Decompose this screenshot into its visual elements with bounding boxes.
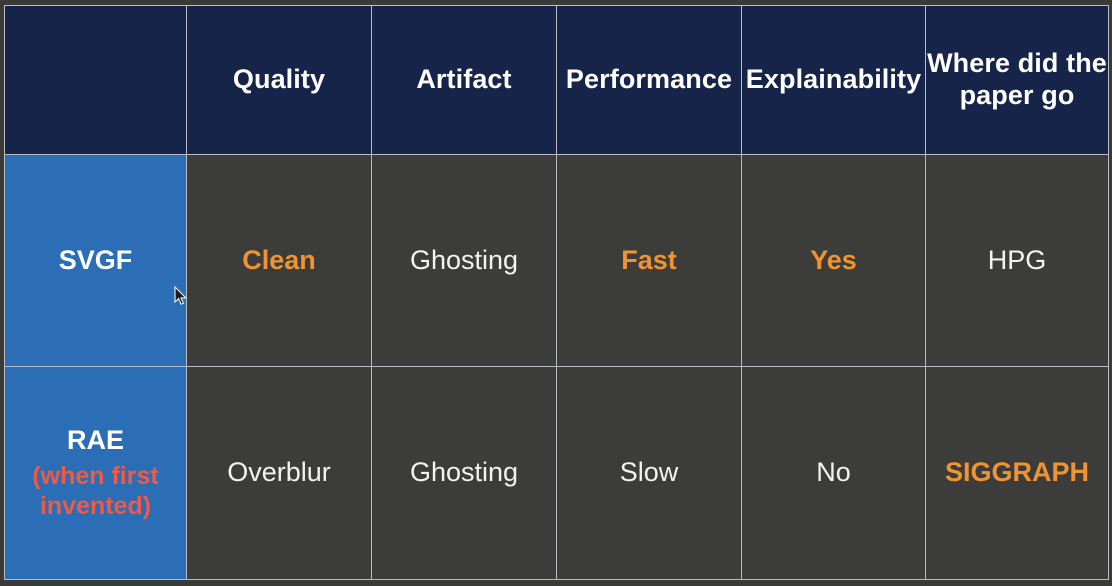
cell-svgf-quality: Clean	[187, 154, 372, 367]
header-cell-artifact: Artifact	[372, 6, 557, 155]
header-cell-quality: Quality	[187, 6, 372, 155]
row-label-rae-main: RAE	[5, 425, 186, 457]
header-cell-venue: Where did the paper go	[926, 6, 1109, 155]
row-label-svgf: SVGF	[5, 154, 187, 367]
header-cell-corner	[5, 6, 187, 155]
cell-rae-venue: SIGGRAPH	[926, 367, 1109, 580]
row-label-rae: RAE (when first invented)	[5, 367, 187, 580]
cell-svgf-performance: Fast	[557, 154, 742, 367]
header-cell-performance: Performance	[557, 6, 742, 155]
cell-svgf-artifact: Ghosting	[372, 154, 557, 367]
cell-rae-explainability: No	[742, 367, 926, 580]
table-header-row: Quality Artifact Performance Explainabil…	[5, 6, 1109, 155]
row-label-svgf-main: SVGF	[5, 245, 186, 277]
cell-rae-performance: Slow	[557, 367, 742, 580]
cell-svgf-explainability: Yes	[742, 154, 926, 367]
table-row: SVGF Clean Ghosting Fast Yes HPG	[5, 154, 1109, 367]
table-row: RAE (when first invented) Overblur Ghost…	[5, 367, 1109, 580]
cell-rae-artifact: Ghosting	[372, 367, 557, 580]
header-cell-explainability: Explainability	[742, 6, 926, 155]
method-comparison-table: Quality Artifact Performance Explainabil…	[4, 5, 1109, 580]
slide-canvas: Quality Artifact Performance Explainabil…	[0, 0, 1112, 586]
cell-rae-quality: Overblur	[187, 367, 372, 580]
row-label-rae-note: (when first invented)	[5, 461, 186, 522]
cell-svgf-venue: HPG	[926, 154, 1109, 367]
